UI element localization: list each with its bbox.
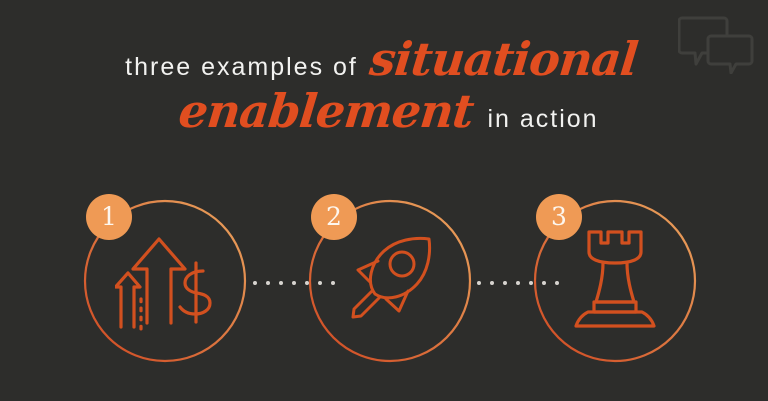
step-1-badge: 1 (86, 194, 132, 240)
step-3-badge: 3 (536, 194, 582, 240)
connector-dot (253, 281, 257, 285)
step-2[interactable]: 2 (307, 198, 473, 364)
growth-arrows-dollar-icon (115, 225, 215, 337)
chess-rook-icon (572, 226, 658, 336)
infographic-canvas: three examples ofsituational enablementi… (0, 0, 768, 401)
step-3-number: 3 (551, 204, 567, 231)
headline-line-2: enablementin action (10, 88, 768, 134)
connector-dot (516, 281, 520, 285)
step-3[interactable]: 3 (532, 198, 698, 364)
step-1-number: 1 (101, 204, 117, 231)
connector-dot (490, 281, 494, 285)
connector-dot (503, 281, 507, 285)
connector-dot (279, 281, 283, 285)
step-1[interactable]: 1 (82, 198, 248, 364)
headline-script-1: situational (367, 36, 639, 82)
step-2-badge: 2 (311, 194, 357, 240)
connector-dot (477, 281, 481, 285)
headline-plain-1: three examples of (125, 53, 358, 81)
rocket-icon (344, 233, 436, 329)
headline-line-1: three examples ofsituational (0, 36, 768, 82)
headline-plain-2: in action (487, 105, 598, 133)
headline-script-2: enablement (177, 88, 476, 134)
step-2-number: 2 (326, 204, 342, 231)
connector-dot (292, 281, 296, 285)
connector-dot (266, 281, 270, 285)
headline: three examples ofsituational enablementi… (0, 36, 768, 134)
